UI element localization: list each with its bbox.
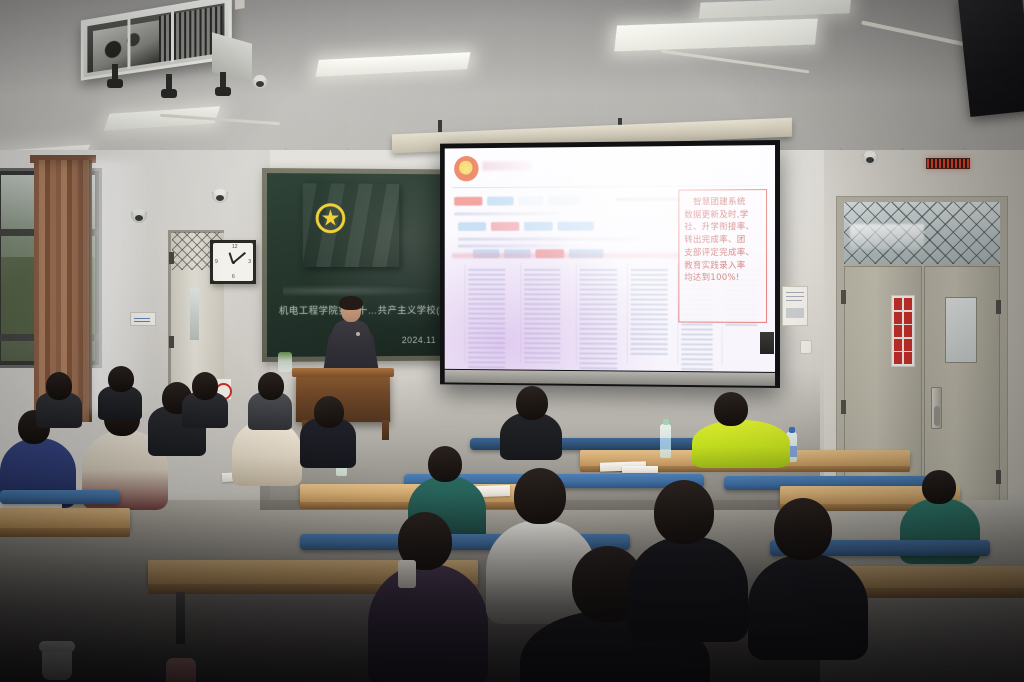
student-head — [922, 470, 956, 504]
flag-emblem-ring-icon — [316, 203, 346, 233]
desk-leg — [176, 592, 185, 644]
filter-row-1[interactable] — [454, 196, 580, 206]
door-hinge — [169, 336, 174, 348]
student-head — [714, 392, 748, 426]
student-head — [654, 480, 714, 544]
student-torso-purple — [368, 564, 488, 682]
table-column — [576, 263, 620, 365]
filter-pill-active[interactable] — [454, 197, 482, 206]
pink-thermos — [166, 658, 196, 682]
student-head — [46, 372, 72, 400]
filter-pill[interactable] — [487, 197, 514, 206]
wall-clock: 12 3 6 9 — [210, 240, 256, 284]
filter-row-2[interactable] — [458, 222, 594, 231]
filter-pill-active[interactable] — [491, 222, 519, 231]
student-head — [314, 396, 344, 428]
student — [500, 386, 562, 456]
student — [300, 396, 356, 466]
student-head — [108, 366, 134, 392]
projection-screen[interactable]: 智慧团建系统 数据更新及时,学 社、升学衔接率、 转出完成率、团 支部评定完成率… — [440, 140, 780, 388]
filter-pill[interactable] — [458, 222, 486, 231]
table-column — [464, 263, 507, 364]
wall-notice-card — [130, 312, 156, 326]
paper-sheet — [622, 466, 658, 473]
blackboard-date: 2024.11 — [402, 335, 436, 345]
desk-edge — [0, 528, 130, 537]
fire-safety-poster — [891, 295, 915, 367]
box-frame-bar — [127, 17, 130, 69]
callout-line: 数据更新及时,学 — [684, 209, 761, 222]
system-logo-text — [482, 161, 531, 170]
classroom-scene: 12 3 6 9 机电工程学院第二十…共产主义学校(班) 2024.11 — [0, 0, 1024, 682]
student-torso-dark — [628, 536, 748, 642]
wall-notice-sign — [782, 286, 808, 326]
filter-pill[interactable] — [557, 222, 593, 231]
door-view-window — [945, 297, 977, 363]
door-hinge — [169, 252, 174, 264]
student — [182, 372, 228, 426]
student-head — [514, 468, 566, 524]
table-column — [520, 263, 564, 364]
poster-cells — [894, 298, 912, 364]
student-head — [516, 386, 548, 420]
student-head — [258, 372, 284, 400]
exit-led-sign — [926, 158, 970, 169]
coffee-cup — [42, 646, 72, 680]
presenter-hair — [339, 296, 363, 310]
table-column — [626, 263, 670, 365]
door-hinge — [841, 400, 846, 414]
student-foreground — [748, 498, 868, 648]
wall-speaker — [760, 332, 774, 354]
student-head — [428, 446, 462, 482]
transom-reflection — [850, 224, 924, 250]
door-hinge — [996, 300, 1001, 314]
callout-line: 转出完成率、团 — [684, 234, 761, 247]
door-hinge — [841, 290, 846, 304]
student — [692, 392, 790, 464]
door-transom-window — [844, 202, 1000, 264]
student-foreground — [628, 480, 748, 630]
callout-line: 智慧团建系统 — [684, 196, 761, 209]
student-head — [774, 498, 832, 560]
door-hinge — [996, 470, 1001, 484]
presenter-badge — [356, 332, 360, 336]
filter-pill[interactable] — [548, 196, 581, 205]
screen-mount-arm — [438, 120, 442, 132]
light-switch[interactable] — [800, 340, 812, 354]
desk-plant — [278, 352, 292, 372]
student — [36, 372, 82, 426]
student-head — [192, 372, 218, 400]
box-frame-bar — [171, 10, 174, 63]
door-handle[interactable] — [931, 387, 942, 429]
callout-line-highlight: 均达到100%! — [684, 272, 761, 285]
flag-star-icon — [322, 209, 340, 227]
student-torso-lime-jacket — [692, 420, 790, 468]
clock-center-pin — [232, 261, 235, 264]
side-door-view-glass — [190, 288, 199, 340]
slide-content: 智慧团建系统 数据更新及时,学 社、升学衔接率、 转出完成率、团 支部评定完成率… — [445, 145, 775, 372]
travel-tumbler — [398, 560, 416, 588]
slide-meta-line — [458, 237, 640, 240]
student — [98, 366, 142, 418]
youth-league-flag — [303, 183, 399, 267]
callout-line: 支部评定完成率、 — [684, 247, 761, 260]
filter-pill[interactable] — [518, 196, 543, 205]
callout-line: 教育实践录入率 — [684, 260, 761, 273]
corner-display-unit — [958, 0, 1024, 117]
hanger-rod — [112, 64, 118, 82]
slide-meta-line — [458, 244, 562, 247]
clock-face: 12 3 6 9 — [213, 243, 253, 281]
desk-left-edge — [0, 508, 130, 530]
highlight-callout-box: 智慧团建系统 数据更新及时,学 社、升学衔接率、 转出完成率、团 支部评定完成率… — [678, 189, 767, 323]
bench-back — [0, 490, 120, 504]
chalk-smudge — [283, 285, 440, 297]
equipment-mount-stem — [235, 0, 245, 10]
projection-screen-surface: 智慧团建系统 数据更新及时,学 社、升学衔接率、 转出完成率、团 支部评定完成率… — [445, 145, 775, 372]
system-logo-icon — [454, 156, 478, 181]
callout-line: 社、升学衔接率、 — [684, 222, 761, 235]
student — [248, 372, 292, 428]
water-bottle — [660, 424, 671, 458]
student-torso-dark — [748, 554, 868, 660]
slide-meta-line — [454, 212, 558, 215]
cup-lid — [39, 641, 75, 652]
slide-divider — [452, 185, 765, 188]
filter-pill[interactable] — [524, 222, 553, 231]
hanger-rod — [166, 74, 172, 92]
hanger-rod — [220, 72, 226, 90]
student-foreground — [368, 512, 488, 682]
